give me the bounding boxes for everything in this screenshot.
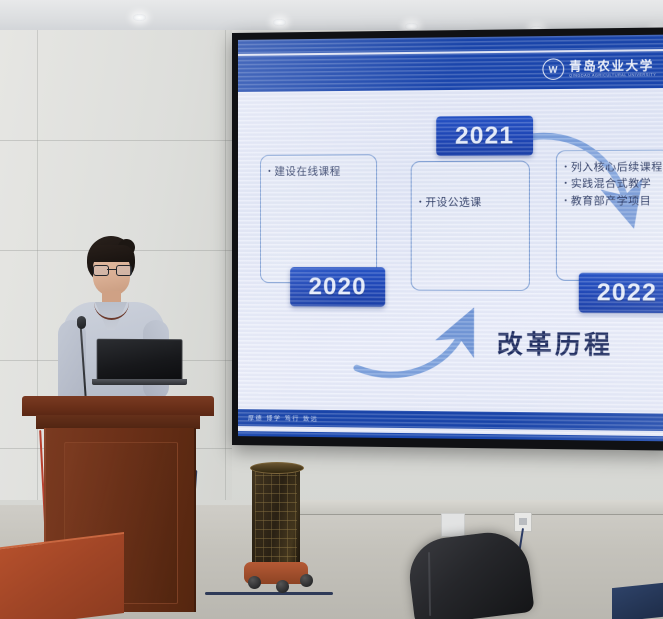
stage-box-2021: 开设公选课 — [411, 161, 530, 291]
university-seal-icon: W — [542, 58, 564, 80]
year-badge-2022: 2022 — [579, 273, 663, 313]
stage-bullet: 开设公选课 — [419, 195, 522, 212]
floor-cable — [205, 592, 333, 595]
university-name-en: QINGDAO AGRICULTURAL UNIVERSITY — [569, 73, 656, 78]
slide-footer-band: 厚德 博学 笃行 致远 — [238, 409, 663, 431]
university-brand: W 青岛农业大学 QINGDAO AGRICULTURAL UNIVERSITY — [542, 57, 656, 80]
front-row-desk — [612, 582, 663, 619]
university-motto: 厚德 博学 笃行 致远 — [248, 413, 318, 423]
baseboard — [300, 500, 663, 515]
year-label: 2022 — [597, 278, 657, 307]
chair-seam — [428, 552, 431, 616]
side-table — [0, 532, 124, 619]
caster-wheel — [248, 576, 261, 589]
caster-wheel — [276, 580, 289, 593]
year-label: 2021 — [455, 121, 514, 150]
presenter-fringe — [89, 245, 134, 262]
caster-wheel — [300, 574, 313, 587]
projection-screen-bezel: W 青岛农业大学 QINGDAO AGRICULTURAL UNIVERSITY — [232, 27, 663, 450]
arrow-2020-to-2021 — [357, 331, 463, 376]
stage-box-2020: 建设在线课程 — [260, 154, 377, 283]
stage-bullet: 教育部产学项目 — [564, 193, 662, 210]
microphone-head-icon — [77, 316, 86, 329]
wall-panel-seam-vertical — [225, 30, 226, 500]
eyeglass-lens-left — [93, 265, 109, 276]
podium-top — [22, 396, 214, 416]
slide-title: 改革历程 — [497, 324, 613, 361]
podium-neck — [36, 415, 200, 429]
presentation-slide: W 青岛农业大学 QINGDAO AGRICULTURAL UNIVERSITY — [238, 35, 663, 442]
year-label: 2020 — [309, 273, 367, 301]
slide-footer-stripe — [238, 431, 663, 441]
eyeglass-bridge — [107, 269, 116, 270]
stage-bullet: 实践混合式教学 — [564, 177, 662, 194]
laptop-base — [92, 379, 187, 385]
outlet-socket — [519, 518, 527, 525]
blank-wall-plate — [441, 513, 465, 537]
stage-bullet: 建设在线课程 — [268, 164, 369, 181]
university-name-block: 青岛农业大学 QINGDAO AGRICULTURAL UNIVERSITY — [569, 59, 656, 78]
eyeglass-lens-right — [116, 265, 132, 276]
ceiling-downlight — [405, 23, 418, 30]
year-badge-2021: 2021 — [436, 116, 533, 156]
vase-pattern — [255, 470, 297, 566]
laptop-screen — [97, 339, 183, 383]
university-name-cn: 青岛农业大学 — [569, 59, 656, 72]
wall-panel-seam-vertical — [37, 30, 38, 500]
vase-rim — [250, 462, 304, 474]
stage-box-2022: 列入核心后续课程 实践混合式教学 教育部产学项目 — [556, 150, 663, 281]
stage-bullet: 列入核心后续课程 — [564, 160, 662, 177]
lecture-hall-photo: W 青岛农业大学 QINGDAO AGRICULTURAL UNIVERSITY — [0, 0, 663, 619]
eyeglasses-icon — [93, 265, 130, 274]
ceiling-downlight — [273, 19, 286, 26]
ceiling-downlight — [133, 14, 146, 21]
year-badge-2020: 2020 — [290, 267, 385, 307]
wall-panel-seam — [0, 140, 232, 141]
decorative-floor-vase — [252, 466, 300, 570]
